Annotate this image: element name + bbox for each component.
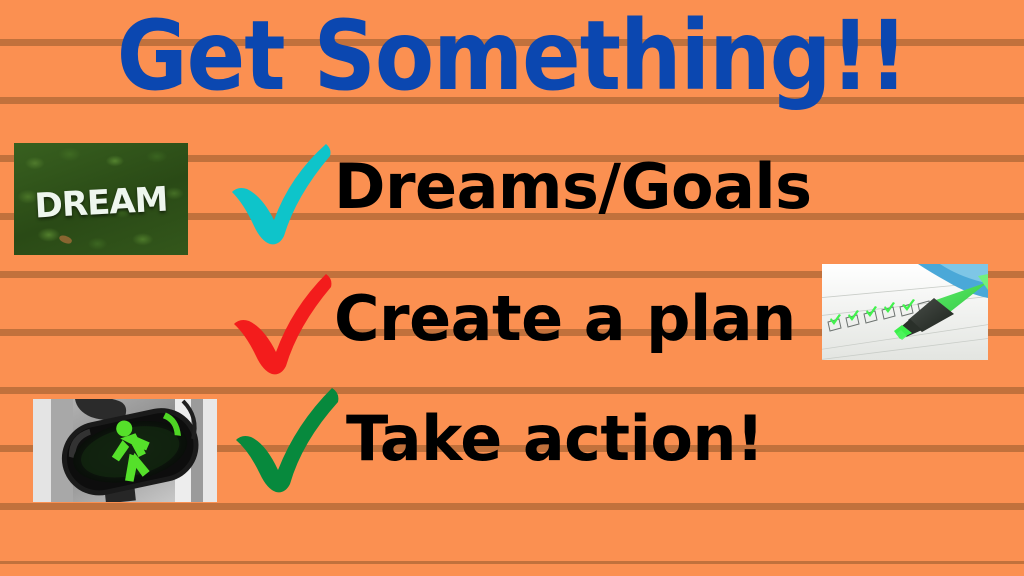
checklist-photo <box>822 264 988 360</box>
check-mark-icon-3 <box>228 382 348 502</box>
slide-canvas: Get Something!! Dreams/Goals Create a pl… <box>0 0 1024 576</box>
traffic-light-photo <box>33 399 217 502</box>
checklist-label-1: Dreams/Goals <box>334 156 812 218</box>
check-mark-icon-1 <box>222 130 342 250</box>
page-title: Get Something!! <box>0 8 1024 104</box>
dream-photo-caption: DREAM <box>14 179 188 228</box>
checklist-label-2: Create a plan <box>334 288 796 350</box>
dream-photo: DREAM <box>14 143 188 255</box>
check-mark-icon-2 <box>226 262 346 382</box>
leaf-fleck <box>58 233 73 245</box>
checklist-label-3: Take action! <box>346 408 764 470</box>
